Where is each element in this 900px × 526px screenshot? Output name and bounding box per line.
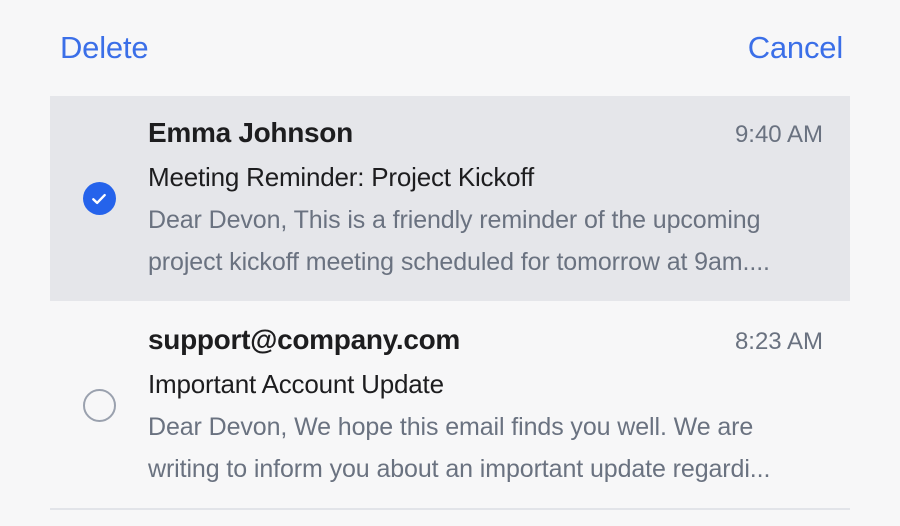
message-sender: Emma Johnson — [148, 114, 353, 152]
message-timestamp: 8:23 AM — [735, 325, 823, 359]
message-row[interactable]: Emma Johnson 9:40 AM Meeting Reminder: P… — [50, 96, 850, 301]
message-header-line: support@company.com 8:23 AM — [148, 321, 823, 359]
mail-selection-screen: Delete Cancel Emma Johnson 9:40 AM Meeti… — [0, 0, 900, 526]
selection-control-cell — [50, 389, 148, 422]
message-preview: Dear Devon, We hope this email finds you… — [148, 406, 823, 490]
message-list: Emma Johnson 9:40 AM Meeting Reminder: P… — [0, 96, 900, 510]
message-content: Emma Johnson 9:40 AM Meeting Reminder: P… — [148, 114, 850, 283]
message-subject: Meeting Reminder: Project Kickoff — [148, 159, 823, 195]
action-bar: Delete Cancel — [0, 0, 900, 96]
cancel-button[interactable]: Cancel — [748, 30, 843, 66]
message-header-line: Emma Johnson 9:40 AM — [148, 114, 823, 152]
circle-outline-icon[interactable] — [83, 389, 116, 422]
message-sender: support@company.com — [148, 321, 460, 359]
check-circle-filled-icon[interactable] — [83, 182, 116, 215]
selection-control-cell — [50, 182, 148, 215]
delete-button[interactable]: Delete — [60, 30, 148, 66]
message-content: support@company.com 8:23 AM Important Ac… — [148, 321, 850, 490]
message-subject: Important Account Update — [148, 366, 823, 402]
message-row[interactable]: support@company.com 8:23 AM Important Ac… — [50, 303, 850, 508]
row-divider — [50, 508, 850, 510]
message-timestamp: 9:40 AM — [735, 118, 823, 152]
message-preview: Dear Devon, This is a friendly reminder … — [148, 199, 823, 283]
